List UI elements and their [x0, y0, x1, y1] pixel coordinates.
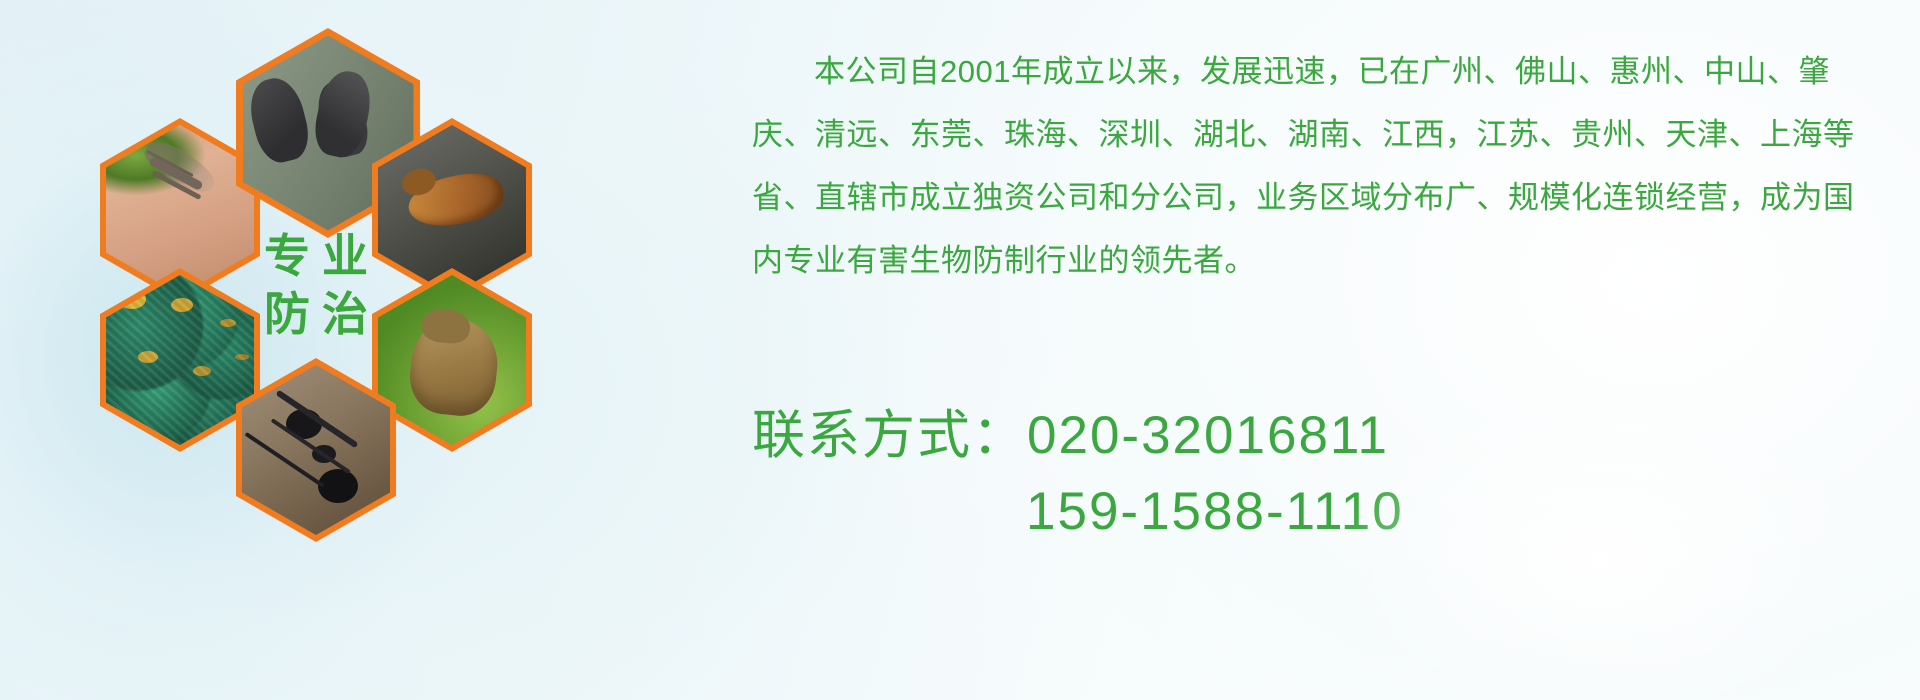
ant-icon	[242, 365, 390, 535]
contact-phone-secondary[interactable]: 159-1588-1110	[752, 474, 1872, 550]
badge-line-2: 防治	[252, 290, 380, 338]
contact-phone-primary[interactable]: 联系方式：020-32016811	[752, 398, 1872, 474]
fly-icon	[106, 275, 254, 445]
contact-block: 联系方式：020-32016811 159-1588-1110	[752, 398, 1872, 550]
hex-photo-stink-bug	[372, 268, 532, 452]
stink-bug-icon	[378, 275, 526, 445]
company-description: 本公司自2001年成立以来，发展迅速，已在广州、佛山、惠州、中山、肇庆、清远、东…	[752, 40, 1862, 292]
description-block: 本公司自2001年成立以来，发展迅速，已在广州、佛山、惠州、中山、肇庆、清远、东…	[752, 40, 1862, 292]
hexagon-photo-cluster: 专业 防治	[78, 10, 598, 570]
company-banner: 专业 防治 本公司自2001年成立以来，发展迅速，已在广州、佛山、惠州、中山、肇…	[0, 0, 1920, 700]
badge-line-1: 专业	[252, 232, 380, 280]
